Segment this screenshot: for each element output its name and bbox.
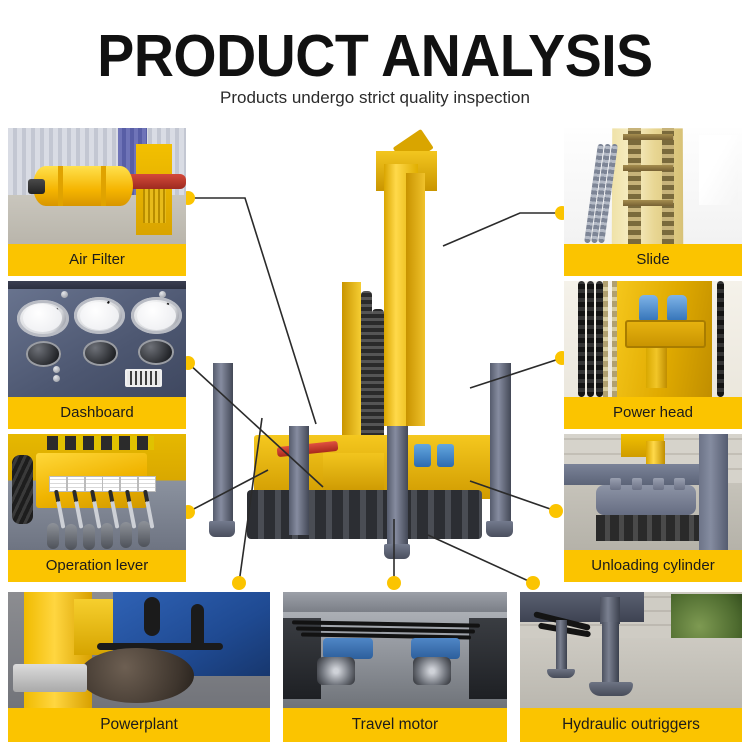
tm-sprocket-right (413, 657, 451, 685)
ol-knob-4[interactable] (101, 523, 113, 549)
ho-outrigger-foot-front (589, 682, 633, 696)
db-needle-2 (99, 301, 110, 317)
ol-hose-bundle (12, 455, 33, 525)
photo-powerplant (8, 592, 270, 708)
ol-knob-2[interactable] (65, 524, 77, 550)
hero-power-head-motor-b (437, 444, 454, 467)
page-subtitle: Products undergo strict quality inspecti… (0, 88, 750, 108)
hero-control-console (323, 453, 384, 494)
page-title: PRODUCT ANALYSIS (23, 26, 728, 86)
sl-banner-right (699, 135, 738, 205)
photo-travel-motor (283, 592, 507, 708)
af-clamp-band-2 (101, 166, 106, 205)
panel-travel-motor[interactable]: Travel motor (283, 592, 507, 742)
db-needle-3 (156, 303, 169, 318)
af-dust-valve (28, 179, 46, 194)
hero-hose-coil-left (361, 291, 372, 445)
sl-feed-chain-left (628, 128, 640, 244)
panel-air-filter[interactable]: Air Filter (8, 128, 186, 276)
pp-engine-tube-1 (144, 597, 160, 636)
ol-label-plate-6 (138, 476, 156, 492)
caption-operation-lever: Operation lever (8, 550, 186, 582)
ph-hydraulic-motor-left (639, 295, 659, 323)
photo-slide (564, 128, 742, 244)
db-screw-lower-2 (53, 375, 60, 382)
panel-slide[interactable]: Slide (564, 128, 742, 276)
sl-crossmember-1 (623, 134, 673, 140)
db-screw-lower-1 (53, 366, 60, 373)
photo-air-filter (8, 128, 186, 244)
hero-power-head-motor-a (414, 444, 431, 467)
caption-travel-motor: Travel motor (283, 708, 507, 742)
ph-hydraulic-motor-right (667, 295, 687, 323)
sl-crossmember-2 (623, 165, 673, 171)
photo-power-head (564, 281, 742, 397)
hero-outrigger-foot-front-left (209, 521, 236, 536)
sl-feed-chain-right (662, 128, 674, 244)
hero-outrigger-leg-front-left (213, 363, 234, 526)
ph-hose-4 (717, 281, 724, 397)
hero-outrigger-leg-rear-right (387, 426, 408, 553)
caption-unloading-cylinder: Unloading cylinder (564, 550, 742, 582)
ho-outrigger-foot-rear (547, 669, 576, 678)
ol-knob-1[interactable] (47, 523, 59, 549)
db-gauge-large-1 (17, 300, 69, 337)
panel-hydraulic-outriggers[interactable]: Hydraulic outriggers (520, 592, 742, 742)
uc-lug-1 (610, 478, 621, 490)
panel-dashboard[interactable]: Dashboard (8, 281, 186, 429)
caption-powerplant: Powerplant (8, 708, 270, 742)
panel-power-head[interactable]: Power head (564, 281, 742, 429)
ph-output-shaft (646, 348, 667, 387)
ph-gearbox-housing (625, 320, 707, 348)
caption-slide: Slide (564, 244, 742, 276)
hero-outrigger-foot-front-right (486, 521, 513, 536)
panel-unloading-cylinder[interactable]: Unloading cylinder (564, 434, 742, 582)
panel-operation-lever[interactable]: Operation lever (8, 434, 186, 582)
uc-lug-2 (632, 478, 643, 490)
sl-crossmember-3 (623, 200, 673, 206)
panel-powerplant[interactable]: Powerplant (8, 592, 270, 742)
db-needle-1 (42, 308, 58, 320)
hero-drilling-rig-image (186, 128, 566, 580)
caption-dashboard: Dashboard (8, 397, 186, 429)
caption-power-head: Power head (564, 397, 742, 429)
ol-upper-manifold (47, 436, 154, 450)
hero-hose-coil-mid (372, 309, 383, 445)
photo-operation-lever (8, 434, 186, 550)
ol-knob-6[interactable] (138, 521, 150, 547)
hero-feed-cylinder (342, 282, 361, 445)
ol-label-plate-2 (67, 476, 85, 492)
product-analysis-page: PRODUCT ANALYSIS Products undergo strict… (0, 0, 750, 750)
hero-outrigger-leg-front-right (490, 363, 511, 526)
tm-sprocket-left (317, 657, 355, 685)
ho-outrigger-leg-rear (556, 620, 567, 671)
ol-knob-3[interactable] (83, 524, 95, 550)
ol-knob-5[interactable] (120, 522, 132, 548)
db-gauge-small-3 (138, 339, 174, 365)
db-panel-top-edge (8, 281, 186, 289)
photo-dashboard (8, 281, 186, 397)
pp-mount-plate (13, 664, 86, 692)
uc-vertical-column (699, 434, 727, 550)
af-clamp-band-1 (58, 166, 63, 205)
hero-crawler-track (247, 490, 483, 540)
uc-crawler-track (596, 515, 703, 541)
ph-hose-1 (578, 281, 585, 397)
caption-hydraulic-outriggers: Hydraulic outriggers (520, 708, 742, 742)
ph-hose-2 (587, 281, 594, 397)
ho-outrigger-leg-front (602, 622, 619, 687)
ol-label-plate-1 (49, 476, 67, 492)
af-filter-canister (33, 166, 133, 205)
db-gauge-small-2 (83, 340, 119, 366)
uc-lug-4 (674, 478, 685, 490)
db-hour-meter (125, 369, 161, 387)
tm-chassis-underside (283, 592, 507, 612)
photo-hydraulic-outriggers (520, 592, 742, 708)
hero-outrigger-foot-rear-right (384, 544, 411, 559)
caption-air-filter: Air Filter (8, 244, 186, 276)
ol-label-plate-5 (120, 476, 138, 492)
ph-hose-3 (596, 281, 603, 397)
db-gauge-small-1 (26, 341, 62, 367)
ph-drill-pipe-2 (612, 281, 617, 397)
page-header: PRODUCT ANALYSIS Products undergo strict… (0, 0, 750, 122)
uc-lug-3 (653, 478, 664, 490)
ph-drill-pipe-1 (603, 281, 608, 397)
pp-clutch-housing (79, 648, 194, 704)
hero-outrigger-leg-rear-left (289, 426, 310, 534)
photo-unloading-cylinder (564, 434, 742, 550)
ho-outrigger-mount-front (600, 597, 620, 625)
hero-mast-slide-rail (406, 173, 425, 426)
